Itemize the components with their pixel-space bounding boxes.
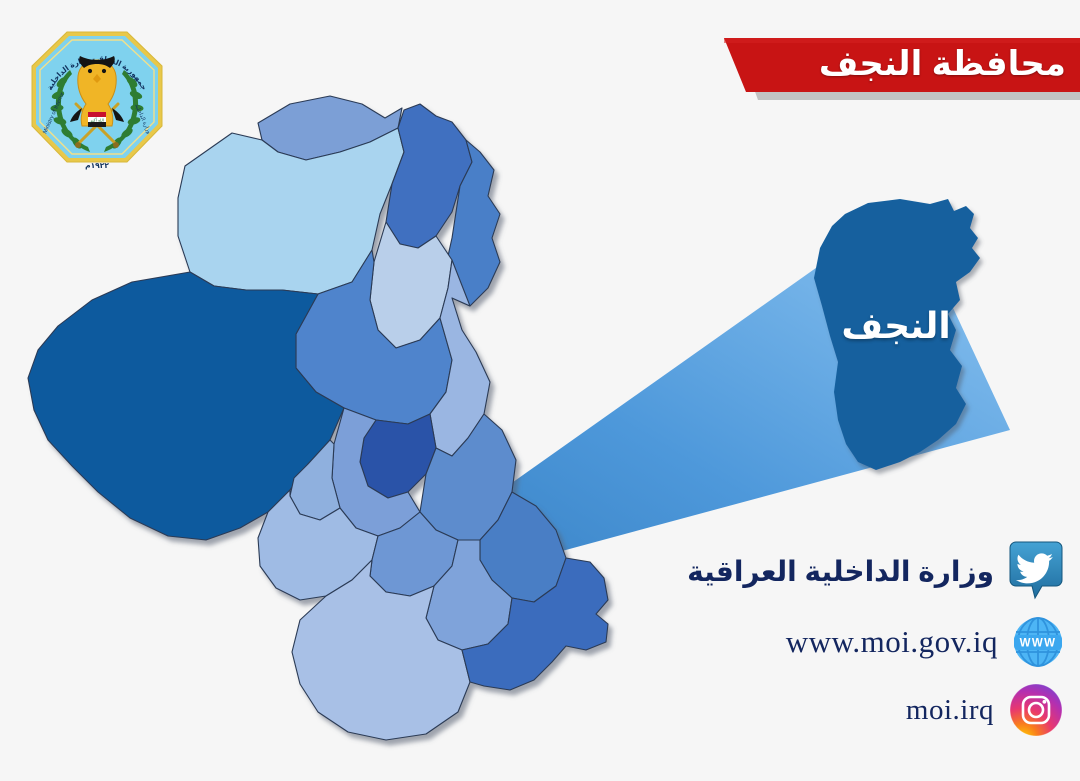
website-url-label: www.moi.gov.iq xyxy=(786,624,998,660)
twitter-icon[interactable] xyxy=(1008,540,1064,602)
twitter-handle-row[interactable]: وزارة الداخلية العراقية xyxy=(687,540,1064,602)
inset-map-label: النجف xyxy=(806,305,986,347)
poster-canvas: جمهورية العراق - وزارة الداخلية xyxy=(0,0,1080,781)
instagram-icon[interactable] xyxy=(1008,682,1064,738)
svg-text:WWW: WWW xyxy=(1020,638,1057,650)
globe-www-icon[interactable]: WWW xyxy=(1012,616,1064,668)
twitter-handle-label: وزارة الداخلية العراقية xyxy=(687,555,994,588)
contact-block: وزارة الداخلية العراقية www.moi.gov.iq xyxy=(644,540,1064,738)
website-row[interactable]: www.moi.gov.iq WWW xyxy=(786,616,1064,668)
instagram-handle-label: moi.irq xyxy=(906,694,994,727)
instagram-row[interactable]: moi.irq xyxy=(906,682,1064,738)
